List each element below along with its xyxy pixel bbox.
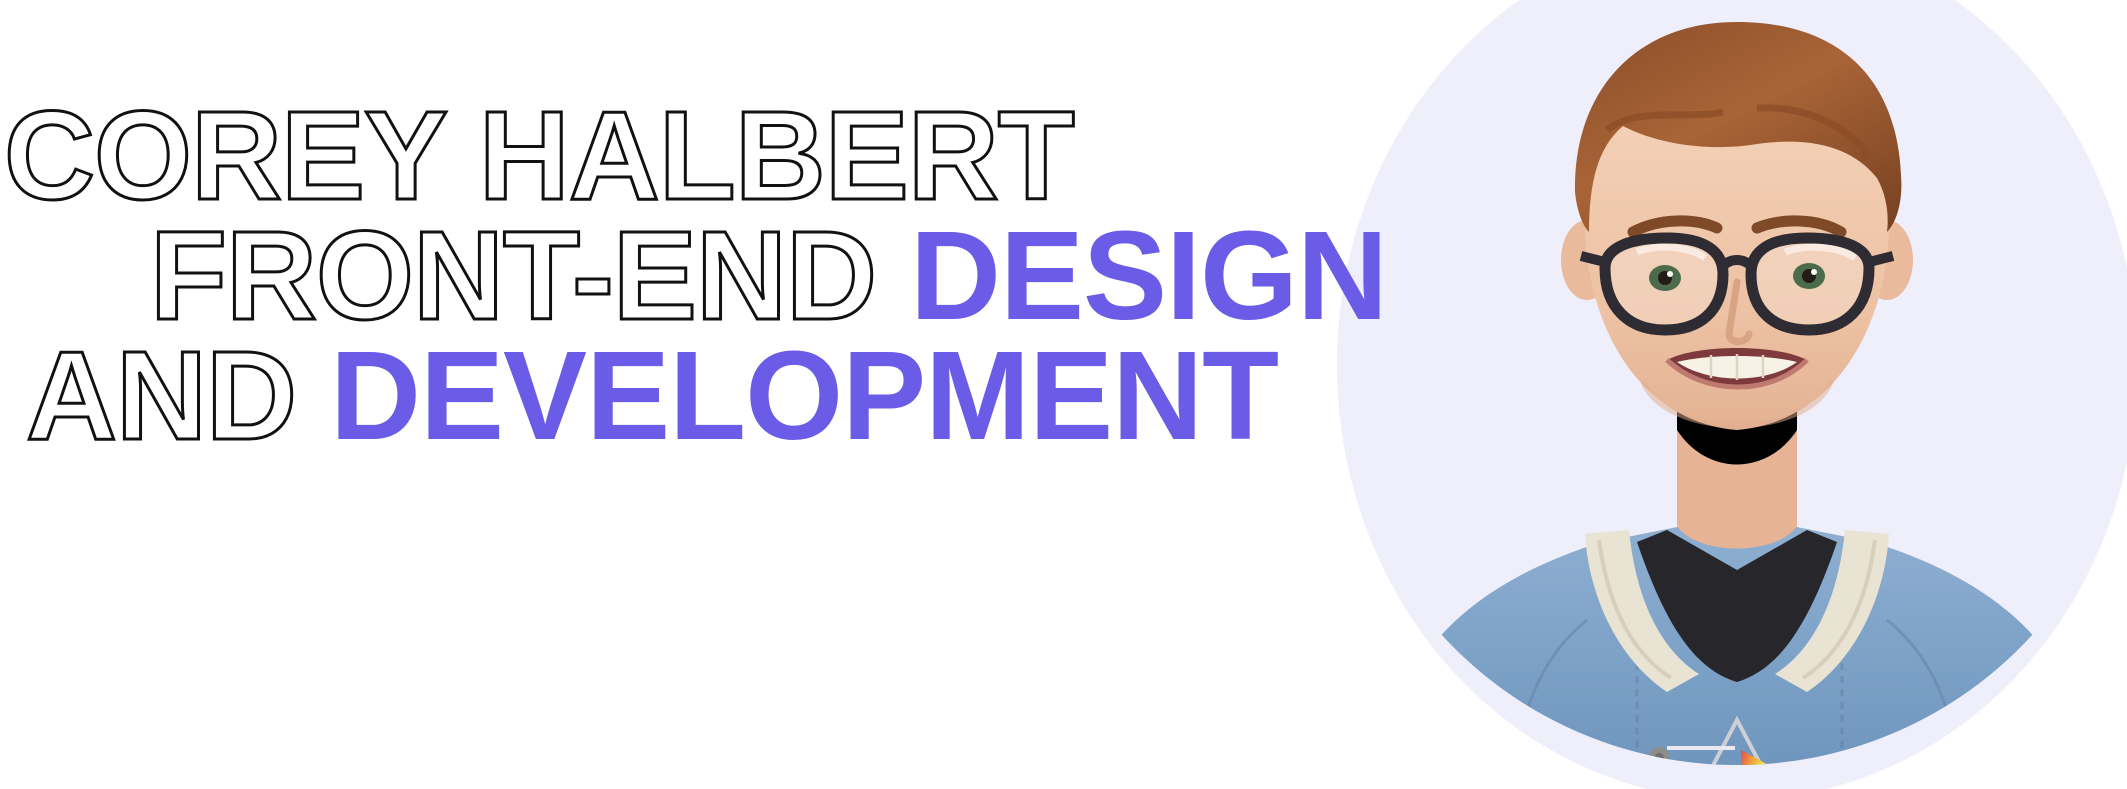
hero-banner: COREY HALBERT FRONT-END DESIGN AND DEVEL… (0, 0, 2127, 789)
headline-line-1: COREY HALBERT (0, 96, 1560, 216)
portrait-block (1337, 0, 2127, 789)
headline-line-3: AND DEVELOPMENT (0, 336, 1560, 456)
headline-line-3-accent: DEVELOPMENT (330, 325, 1278, 466)
portrait-circle-background (1337, 0, 2127, 789)
headline-line-2-outline: FRONT-END (150, 205, 910, 346)
portrait-photo (1337, 0, 2127, 789)
headline-line-1-outline: COREY HALBERT (4, 85, 1074, 226)
headline-line-3-outline: AND (26, 325, 330, 466)
headline-line-2-accent: DESIGN (910, 205, 1387, 346)
headline: COREY HALBERT FRONT-END DESIGN AND DEVEL… (0, 96, 1560, 456)
headline-line-2: FRONT-END DESIGN (0, 216, 1560, 336)
